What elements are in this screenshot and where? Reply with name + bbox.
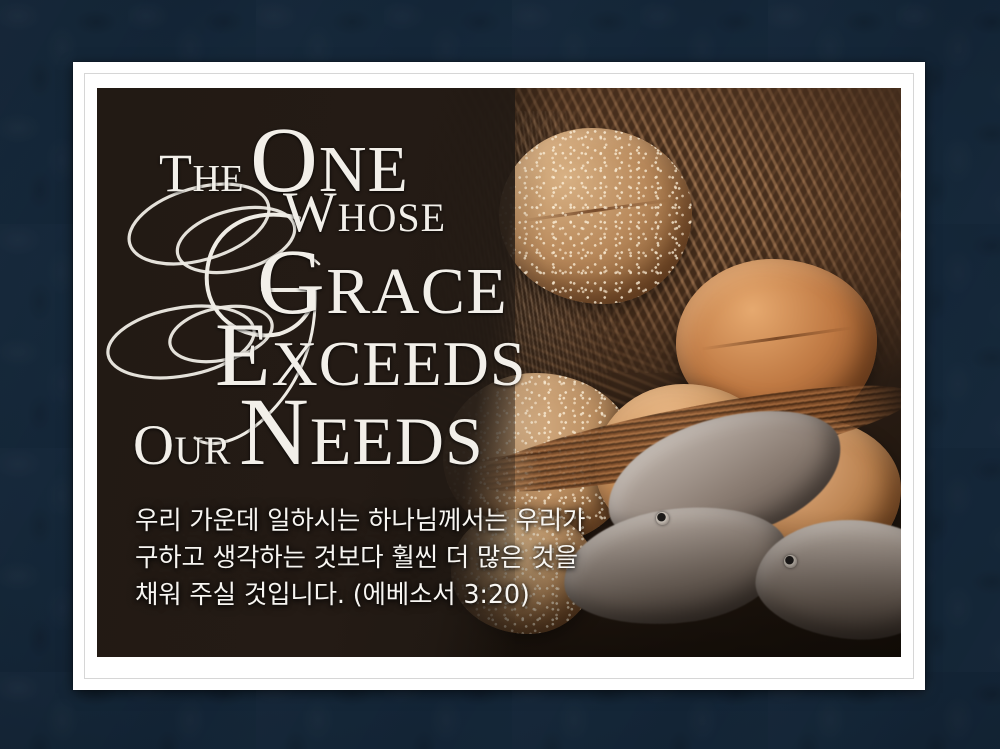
- headline-word-the: THE: [159, 158, 244, 200]
- headline-word-needs: NEEDS: [239, 403, 484, 479]
- presentation-slide: THEONE WHOSE GRACE EXCEEDS OURNEEDS 우리 가…: [0, 0, 1000, 749]
- slide-image[interactable]: THEONE WHOSE GRACE EXCEEDS OURNEEDS 우리 가…: [97, 88, 901, 657]
- headline-word-our: OUR: [133, 428, 231, 473]
- scripture-line: 구하고 생각하는 것보다 훨씬 더 많은 것을: [135, 540, 715, 577]
- scripture-line: 우리 가운데 일하시는 하나님께서는 우리가: [135, 503, 715, 540]
- scripture-text: 우리 가운데 일하시는 하나님께서는 우리가 구하고 생각하는 것보다 훨씬 더…: [135, 503, 715, 614]
- headline-line-5: OURNEEDS: [133, 376, 484, 487]
- scripture-line: 채워 주실 것입니다. (에베소서 3:20): [135, 577, 715, 614]
- picture-frame[interactable]: THEONE WHOSE GRACE EXCEEDS OURNEEDS 우리 가…: [73, 62, 925, 690]
